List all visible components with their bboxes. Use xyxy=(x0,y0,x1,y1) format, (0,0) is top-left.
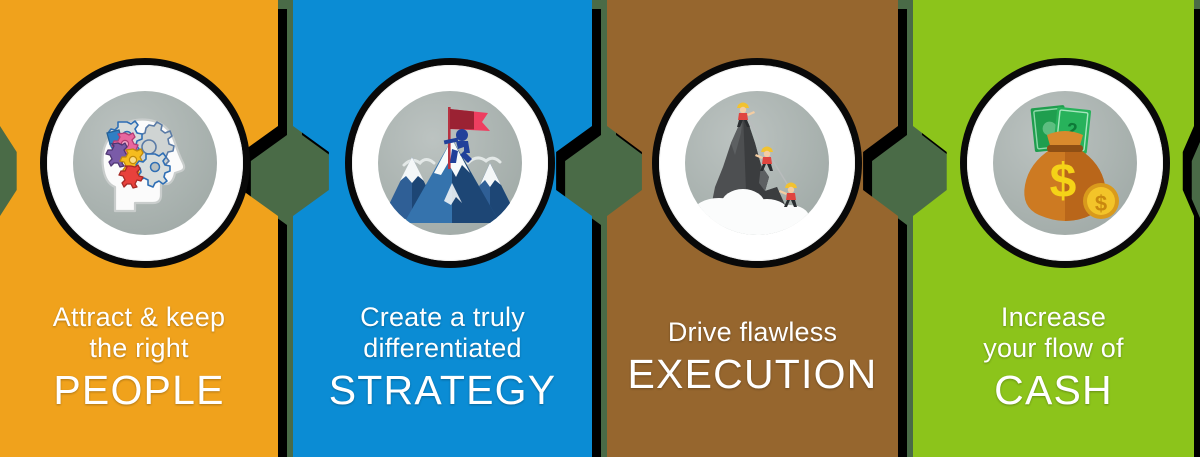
badge-people[interactable] xyxy=(40,58,250,268)
badge-strategy[interactable] xyxy=(345,58,555,268)
brain-gears-icon xyxy=(73,91,217,235)
infographic-canvas: Attract & keep the right PEOPLE Create a… xyxy=(0,0,1200,457)
badge-disc xyxy=(685,91,829,235)
mountain-flag-icon xyxy=(378,91,522,235)
svg-text:$: $ xyxy=(1095,191,1107,216)
svg-text:$: $ xyxy=(1050,155,1077,208)
badge-disc xyxy=(378,91,522,235)
money-bag-icon: 2 $ $ xyxy=(993,91,1137,235)
badge-disc: 2 $ $ xyxy=(993,91,1137,235)
climbers-mountain-icon xyxy=(685,91,829,235)
badge-cash[interactable]: 2 $ $ xyxy=(960,58,1170,268)
badge-disc xyxy=(73,91,217,235)
badge-execution[interactable] xyxy=(652,58,862,268)
